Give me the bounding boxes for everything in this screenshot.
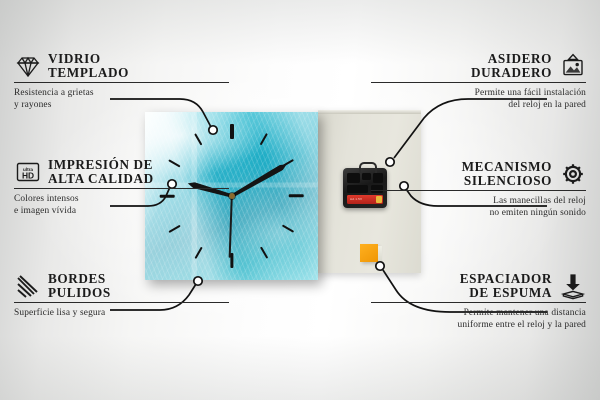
feature-title-line1: BORDES [48, 272, 106, 286]
feature-glass: VIDRIO TEMPLADO Resistencia a grietas y … [14, 52, 229, 112]
divider [371, 82, 586, 83]
divider [371, 190, 586, 191]
feature-title-line2: DURADERO [471, 66, 552, 80]
divider [14, 302, 229, 303]
feature-spacer: ESPACIADOR DE ESPUMA Permite mantener un… [371, 272, 586, 332]
feature-title-line1: IMPRESIÓN DE [48, 158, 153, 172]
feature-description: Superficie lisa y segura [14, 307, 229, 319]
feature-title-line1: ASIDERO [488, 52, 552, 66]
gear-icon [559, 160, 586, 187]
product-infographic: AA 1.5V [0, 0, 600, 400]
feature-title-line2: SILENCIOSO [464, 174, 552, 188]
feature-title-line2: PULIDOS [48, 286, 111, 300]
feature-description: Resistencia a grietas y rayones [14, 87, 229, 112]
feature-title-line1: MECANISMO [462, 160, 552, 174]
arrow-down-onto-layers-icon [559, 272, 586, 299]
feature-title-line2: DE ESPUMA [469, 286, 552, 300]
polished-edges-icon [14, 272, 41, 299]
wall-hanging-frame-icon [559, 52, 586, 79]
feature-hook: ASIDERO DURADERO Permite una fácil insta… [371, 52, 586, 112]
diamond-icon [14, 52, 41, 79]
feature-description: Permite mantener una distancia uniforme … [371, 307, 586, 332]
ultra-hd-icon: ultra HD [14, 158, 41, 185]
feature-edges: BORDES PULIDOS Superficie lisa y segura [14, 272, 229, 319]
feature-title-line1: VIDRIO [48, 52, 101, 66]
wire-dot-spacer [376, 262, 384, 270]
svg-text:HD: HD [22, 171, 34, 181]
feature-title-line2: TEMPLADO [48, 66, 129, 80]
feature-description: Colores intensos e imagen vívida [14, 193, 229, 218]
divider [14, 82, 229, 83]
divider [371, 302, 586, 303]
feature-title-line1: ESPACIADOR [460, 272, 552, 286]
feature-description: Las manecillas del reloj no emiten ningú… [371, 195, 586, 220]
feature-print: ultra HD IMPRESIÓN DE ALTA CALIDAD Color… [14, 158, 229, 218]
divider [14, 188, 229, 189]
feature-title-line2: ALTA CALIDAD [48, 172, 154, 186]
wire-dot-glass [209, 126, 217, 134]
feature-mechanism: MECANISMO SILENCIOSO Las manecillas del … [371, 160, 586, 220]
feature-description: Permite una fácil instalación del reloj … [371, 87, 586, 112]
